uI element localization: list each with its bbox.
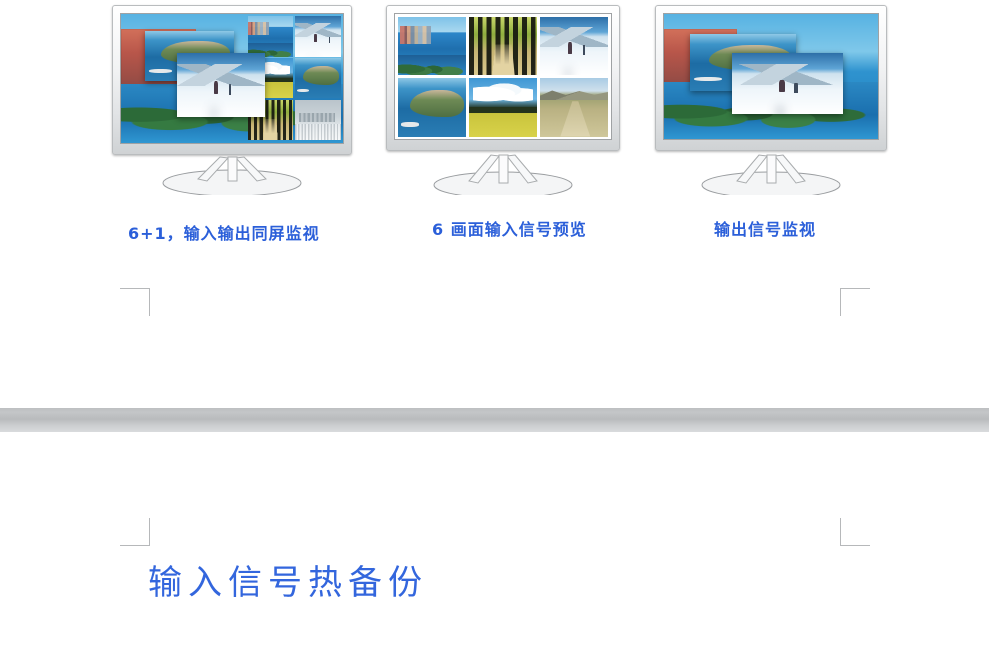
preview-tile-snow-mountain[interactable]: [540, 17, 608, 76]
crop-mark-bottom-left: [120, 518, 150, 546]
monitor-output[interactable]: 输出信号监视: [655, 5, 887, 195]
monitor-bezel: [112, 5, 352, 155]
monitor-caption: 输出信号监视: [714, 216, 816, 240]
preview-tile-coastal-bay[interactable]: [398, 78, 466, 137]
floating-window-snow-mountain[interactable]: [177, 53, 265, 118]
thumbnail-snow-mountain[interactable]: [295, 16, 341, 57]
floating-window-snow-mountain[interactable]: [732, 53, 843, 115]
monitor-screen[interactable]: [394, 13, 612, 140]
monitor-caption: 6+1，输入输出同屏监视: [128, 220, 320, 244]
section-headline: 输入信号热备份: [148, 555, 428, 604]
monitor-multiview[interactable]: 6+1，输入输出同屏监视: [112, 5, 352, 195]
preview-tile-dirt-road[interactable]: [540, 78, 608, 137]
section-divider-band: [0, 408, 989, 432]
preview-tile-city-harbour[interactable]: [398, 17, 466, 76]
monitor-preview[interactable]: 6 画面输入信号预览: [386, 5, 620, 195]
crop-mark-top-left: [120, 288, 150, 316]
monitor-screen[interactable]: [663, 13, 879, 140]
floating-window-photo: [177, 53, 265, 118]
slide-canvas: 6+1，输入输出同屏监视 6 画面输入信号预览: [0, 0, 989, 647]
thumbnail-city-harbour[interactable]: [248, 16, 294, 57]
preview-tile-autumn-forest[interactable]: [469, 17, 537, 76]
floating-window-photo: [732, 53, 843, 115]
monitor-bezel: [386, 5, 620, 151]
thumbnail-winter-village[interactable]: [295, 100, 341, 141]
crop-mark-bottom-right: [840, 518, 870, 546]
monitor-bezel: [655, 5, 887, 151]
monitor-caption: 6 画面输入信号预览: [432, 216, 587, 240]
thumbnail-coastal-bay[interactable]: [295, 58, 341, 99]
crop-mark-top-right: [840, 288, 870, 316]
preview-tile-cloud-yellow-field[interactable]: [469, 78, 537, 137]
monitor-screen[interactable]: [120, 13, 344, 144]
